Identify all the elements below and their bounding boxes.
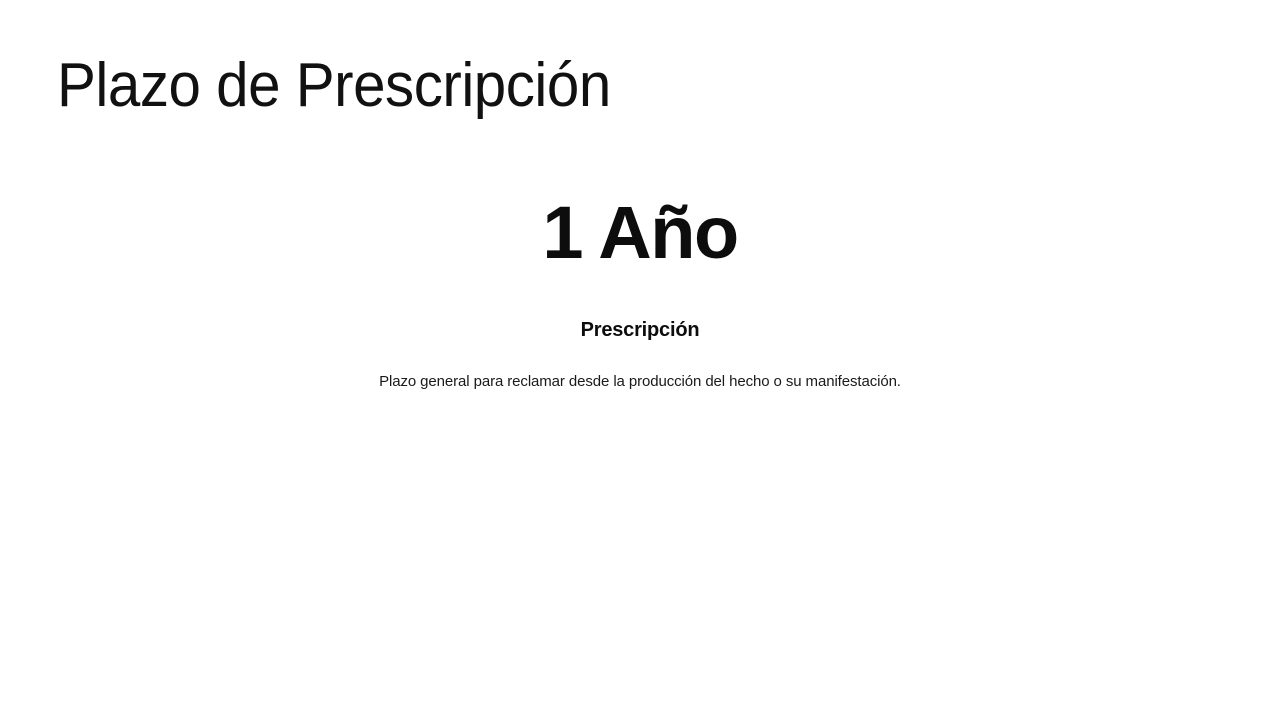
stat-description: Plazo general para reclamar desde la pro…	[0, 342, 1280, 392]
page-title: Plazo de Prescripción	[57, 55, 611, 117]
stat-block: 1 Año Prescripción Plazo general para re…	[0, 196, 1280, 392]
slide-canvas: Plazo de Prescripción 1 Año Prescripción…	[0, 0, 1280, 720]
stat-value: 1 Año	[0, 196, 1280, 270]
stat-label: Prescripción	[0, 270, 1280, 342]
